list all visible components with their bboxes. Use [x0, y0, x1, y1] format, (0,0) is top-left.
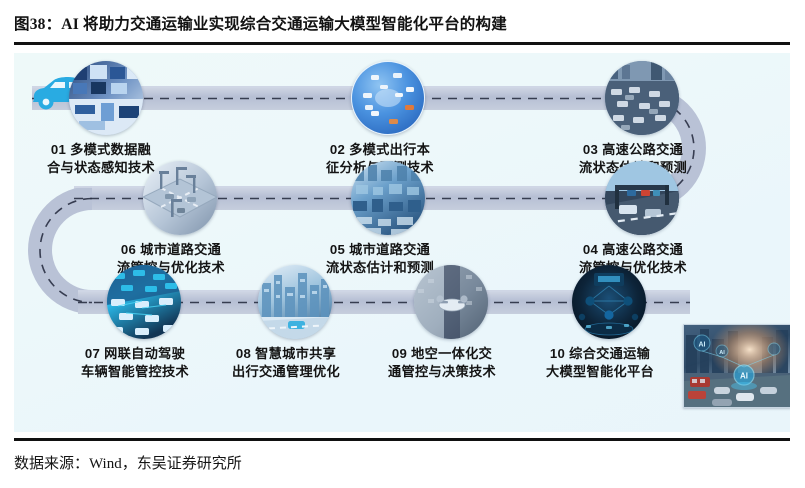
node-06-icon[interactable] [143, 161, 217, 235]
ai-city-graphic: AI AI AI [684, 325, 790, 407]
node-10-caption: 10 综合交通运输 大模型智能化平台 [505, 345, 695, 381]
svg-text:AI: AI [740, 372, 748, 381]
node-10-line1: 10 综合交通运输 [550, 346, 650, 361]
node-08-icon[interactable] [258, 265, 332, 339]
node-01-icon[interactable] [69, 61, 143, 135]
ai-smart-city-illustration[interactable]: AI AI AI [683, 324, 790, 408]
node-07-line1: 07 网联自动驾驶 [85, 346, 185, 361]
svg-text:AI: AI [699, 342, 706, 349]
intersection-3d-thumbnail [143, 161, 217, 235]
node-04-icon[interactable] [605, 161, 679, 235]
node-10-line2: 大模型智能化平台 [505, 363, 695, 381]
node-03-line1: 03 高速公路交通 [583, 142, 683, 157]
multimodal-transport-globe-thumbnail [351, 61, 425, 135]
integrated-platform-dark-thumbnail [572, 265, 646, 339]
node-09-icon[interactable] [414, 265, 488, 339]
node-06-line1: 06 城市道路交通 [121, 242, 221, 257]
node-07-icon[interactable] [107, 265, 181, 339]
node-03-icon[interactable] [605, 61, 679, 135]
source-note: 数据来源：Wind，东吴证券研究所 [14, 452, 242, 473]
node-02-icon[interactable] [351, 61, 425, 135]
page-title: 图38：AI 将助力交通运输业实现综合交通运输大模型智能化平台的构建 [14, 12, 805, 34]
air-ground-drone-thumbnail [414, 265, 488, 339]
node-04-line1: 04 高速公路交通 [583, 242, 683, 257]
header-divider [14, 42, 790, 45]
diagram-panel: 01 多模式数据融 合与状态感知技术 02 多模式出行本 征分析与预测技术 [14, 53, 790, 432]
connected-autonomous-vehicles-thumbnail [107, 265, 181, 339]
highway-gantry-thumbnail [605, 161, 679, 235]
city-aerial-thumbnail [351, 161, 425, 235]
node-02-line1: 02 多模式出行本 [330, 142, 430, 157]
footer-divider [14, 438, 790, 441]
figure-header: 图38：AI 将助力交通运输业实现综合交通运输大模型智能化平台的构建 [0, 0, 805, 44]
node-05-icon[interactable] [351, 161, 425, 235]
highway-traffic-thumbnail [605, 61, 679, 135]
node-01-line1: 01 多模式数据融 [51, 142, 151, 157]
node-05-line1: 05 城市道路交通 [330, 242, 430, 257]
node-10-icon[interactable] [572, 265, 646, 339]
control-room-thumbnail [69, 61, 143, 135]
svg-text:AI: AI [719, 350, 725, 356]
smart-city-skyline-thumbnail [258, 265, 332, 339]
node-08-line1: 08 智慧城市共享 [236, 346, 336, 361]
node-09-line1: 09 地空一体化交 [392, 346, 492, 361]
